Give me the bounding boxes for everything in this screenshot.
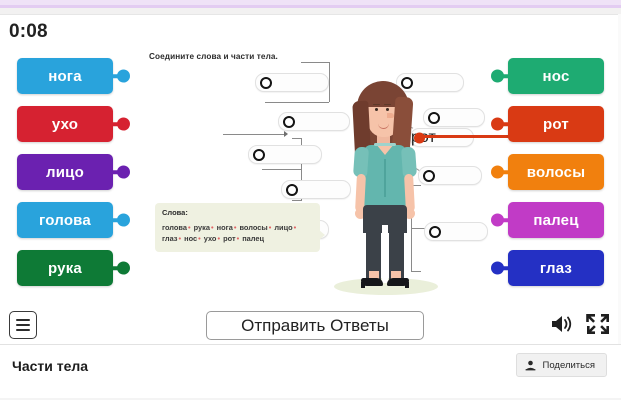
fullscreen-expand-icon[interactable]	[586, 313, 610, 335]
word-chip-label: волосы	[527, 164, 585, 181]
activity-stage: Соедините слова и части тела.	[0, 40, 621, 302]
share-person-icon	[525, 360, 536, 371]
shirt-placket-shape	[384, 159, 386, 197]
word-chip-label: ухо	[52, 116, 78, 133]
chip-knob[interactable]	[117, 70, 130, 83]
word-bank-words: голова• рука• нога• волосы• лицо• глаз• …	[162, 222, 313, 245]
share-button[interactable]: Поделиться	[516, 353, 607, 377]
menu-bar	[16, 329, 30, 331]
submit-answers-button[interactable]: Отправить Ответы	[206, 311, 424, 340]
chip-knob[interactable]	[491, 262, 504, 275]
word-chip-label: нога	[48, 68, 82, 85]
word-chip-left[interactable]: нога	[17, 58, 113, 94]
word-chip-right[interactable]: волосы	[508, 154, 604, 190]
socket-icon	[260, 77, 272, 89]
word-chip-label: голова	[39, 212, 91, 229]
socket-icon	[283, 116, 295, 128]
leader-arrow	[284, 131, 288, 137]
instruction-text: Соедините слова и части тела.	[149, 52, 379, 61]
heel-shape	[405, 282, 409, 288]
menu-bar	[16, 324, 30, 326]
chip-knob[interactable]	[117, 118, 130, 131]
word-chip-label: глаз	[540, 260, 572, 277]
word-chip-left[interactable]: ухо	[17, 106, 113, 142]
menu-bar	[16, 319, 30, 321]
sleeve-shape	[401, 147, 417, 178]
word-chip-right[interactable]: палец	[508, 202, 604, 238]
word-chip-label: рот	[543, 116, 569, 133]
word-chip-right[interactable]: рот	[508, 106, 604, 142]
word-bank-tail	[319, 230, 325, 240]
chip-knob[interactable]	[117, 262, 130, 275]
submit-answers-label: Отправить Ответы	[241, 316, 389, 336]
share-button-label: Поделиться	[543, 360, 595, 371]
word-chip-label: нос	[543, 68, 570, 85]
answer-blank[interactable]	[248, 145, 322, 164]
hamburger-menu-button[interactable]	[9, 311, 37, 339]
chip-knob[interactable]	[491, 118, 504, 131]
chip-knob[interactable]	[117, 214, 130, 227]
leader-line	[265, 102, 303, 103]
word-chip-left[interactable]: рука	[17, 250, 113, 286]
word-chip-left[interactable]: лицо	[17, 154, 113, 190]
speaker-icon[interactable]	[549, 313, 573, 335]
top-divider	[0, 14, 621, 15]
socket-icon	[286, 184, 298, 196]
word-chip-left[interactable]: голова	[17, 202, 113, 238]
page-footer: Части тела Поделиться	[0, 345, 621, 400]
word-bank: Слова: голова• рука• нога• волосы• лицо•…	[155, 203, 320, 252]
leader-line	[292, 169, 302, 170]
collar-trim-shape	[374, 143, 396, 146]
activity-app: 0:08 Соедините слова и части тела.	[0, 0, 621, 400]
leader-line	[262, 169, 293, 170]
word-chip-label: рука	[48, 260, 82, 277]
nose-shape	[387, 113, 394, 118]
leader-line	[301, 102, 329, 103]
leader-line	[301, 62, 329, 63]
chip-knob[interactable]	[117, 166, 130, 179]
leader-line	[292, 138, 302, 139]
word-chip-right[interactable]: нос	[508, 58, 604, 94]
chip-knob[interactable]	[491, 214, 504, 227]
word-chip-label: палец	[533, 212, 578, 229]
word-bank-title: Слова:	[162, 208, 313, 217]
body-illustration	[330, 75, 440, 301]
sleeve-shape	[353, 147, 369, 178]
leg-gap-shape	[382, 225, 388, 283]
chip-knob[interactable]	[491, 70, 504, 83]
heel-shape	[361, 282, 365, 288]
word-chip-right[interactable]: глаз	[508, 250, 604, 286]
word-chip-label: лицо	[46, 164, 84, 181]
leader-line	[223, 134, 285, 135]
chip-knob[interactable]	[491, 166, 504, 179]
socket-icon	[253, 149, 265, 161]
page-title: Части тела	[12, 358, 88, 374]
answer-blank[interactable]	[255, 73, 329, 92]
leader-line	[292, 200, 302, 201]
